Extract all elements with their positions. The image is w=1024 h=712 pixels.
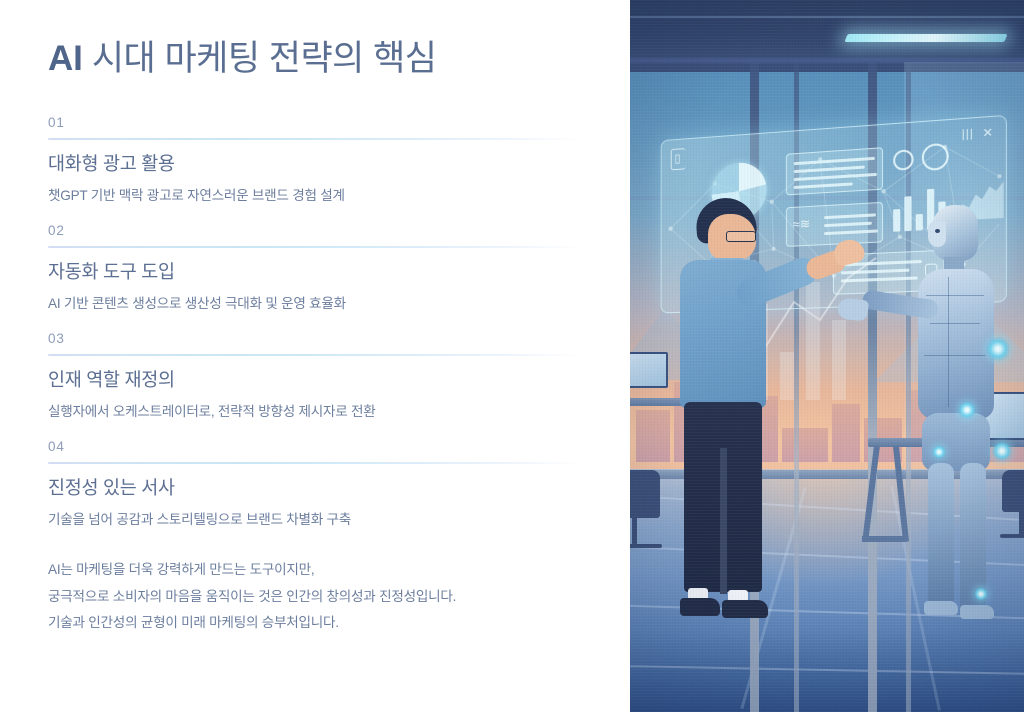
content-column: AI 시대 마케팅 전략의 핵심 01 대화형 광고 활용 챗GPT 기반 맥락…: [0, 0, 630, 712]
list-item: 04 진정성 있는 서사 기술을 넘어 공감과 스토리텔링으로 브랜드 차별화 …: [48, 439, 584, 530]
window-header-beam: [630, 62, 1024, 72]
robot-eye: [935, 229, 940, 233]
robot-core-joint: [958, 401, 976, 419]
robot-hip-joint: [992, 441, 1012, 461]
robot-hip-joint: [932, 445, 946, 459]
list-item: 01 대화형 광고 활용 챗GPT 기반 맥락 광고로 자연스러운 브랜드 경험…: [48, 115, 584, 206]
list-item: 02 자동화 도구 도입 AI 기반 콘텐츠 생성으로 생산성 극대화 및 운영…: [48, 223, 584, 314]
item-title: 인재 역할 재정의: [48, 368, 584, 392]
man-shoe: [722, 600, 768, 618]
slide-page: AI 시대 마케팅 전략의 핵심 01 대화형 광고 활용 챗GPT 기반 맥락…: [0, 0, 1024, 712]
item-number: 01: [48, 115, 584, 131]
strategy-list: 01 대화형 광고 활용 챗GPT 기반 맥락 광고로 자연스러운 브랜드 경험…: [48, 115, 584, 530]
robot-hips: [922, 413, 990, 471]
item-number: 02: [48, 223, 584, 239]
man-leg-separation: [720, 448, 727, 594]
glasses-icon: [726, 231, 756, 242]
page-title-rest: 시대 마케팅 전략의 핵심: [83, 39, 437, 78]
robot-torso: [918, 269, 994, 419]
closing-paragraph: AI는 마케팅을 더욱 강력하게 만드는 도구이지만, 궁극적으로 소비자의 마…: [48, 557, 584, 635]
robot-leg: [928, 463, 954, 605]
desktop-monitor: [630, 352, 668, 388]
ceiling-edge: [630, 58, 1024, 63]
item-divider: [48, 246, 584, 248]
ceiling-seam: [630, 16, 1024, 18]
item-title: 대화형 광고 활용: [48, 152, 584, 176]
item-description: 기술을 넘어 공감과 스토리텔링으로 브랜드 차별화 구축: [48, 510, 584, 530]
item-divider: [48, 138, 584, 140]
robot-face: [928, 221, 946, 247]
item-divider: [48, 354, 584, 356]
item-description: AI 기반 콘텐츠 생성으로 생산성 극대화 및 운영 효율화: [48, 294, 584, 314]
bracket-glyph: ▯: [674, 152, 680, 164]
robot-ankle-joint: [974, 587, 988, 601]
item-description: 실행자에서 오케스트레이터로, 전략적 방향성 제시자로 전환: [48, 402, 584, 422]
robot-foot: [960, 605, 994, 619]
businessman-figure: [664, 198, 804, 628]
close-icon[interactable]: ✕: [982, 126, 993, 139]
man-shoe: [680, 598, 720, 616]
humanoid-robot-figure: [896, 205, 1016, 625]
hero-illustration: ▯ ≈≋: [630, 0, 1024, 712]
closing-line-1: AI는 마케팅을 더욱 강력하게 만드는 도구이지만,: [48, 557, 584, 583]
item-divider: [48, 462, 584, 464]
list-item: 03 인재 역할 재정의 실행자에서 오케스트레이터로, 전략적 방향성 제시자…: [48, 331, 584, 422]
page-title: AI 시대 마케팅 전략의 핵심: [48, 38, 584, 81]
closing-line-3: 기술과 인간성의 균형이 미래 마케팅의 승부처입니다.: [48, 610, 584, 636]
item-number: 04: [48, 439, 584, 455]
office-chair: [630, 470, 660, 518]
item-description: 챗GPT 기반 맥락 광고로 자연스러운 브랜드 경험 설계: [48, 186, 584, 206]
closing-line-2: 궁극적으로 소비자의 마음을 움직이는 것은 인간의 창의성과 진정성입니다.: [48, 584, 584, 610]
item-number: 03: [48, 331, 584, 347]
menu-icon[interactable]: |||: [962, 129, 974, 141]
robot-shoulder-joint: [986, 337, 1010, 361]
robot-foot: [924, 601, 958, 615]
item-title: 진정성 있는 서사: [48, 476, 584, 500]
page-title-emphasis: AI: [48, 39, 83, 78]
ceiling-light-fixture: [844, 34, 1007, 42]
office-ceiling: [630, 0, 1024, 62]
item-title: 자동화 도구 도입: [48, 260, 584, 284]
text-card: [786, 147, 883, 195]
